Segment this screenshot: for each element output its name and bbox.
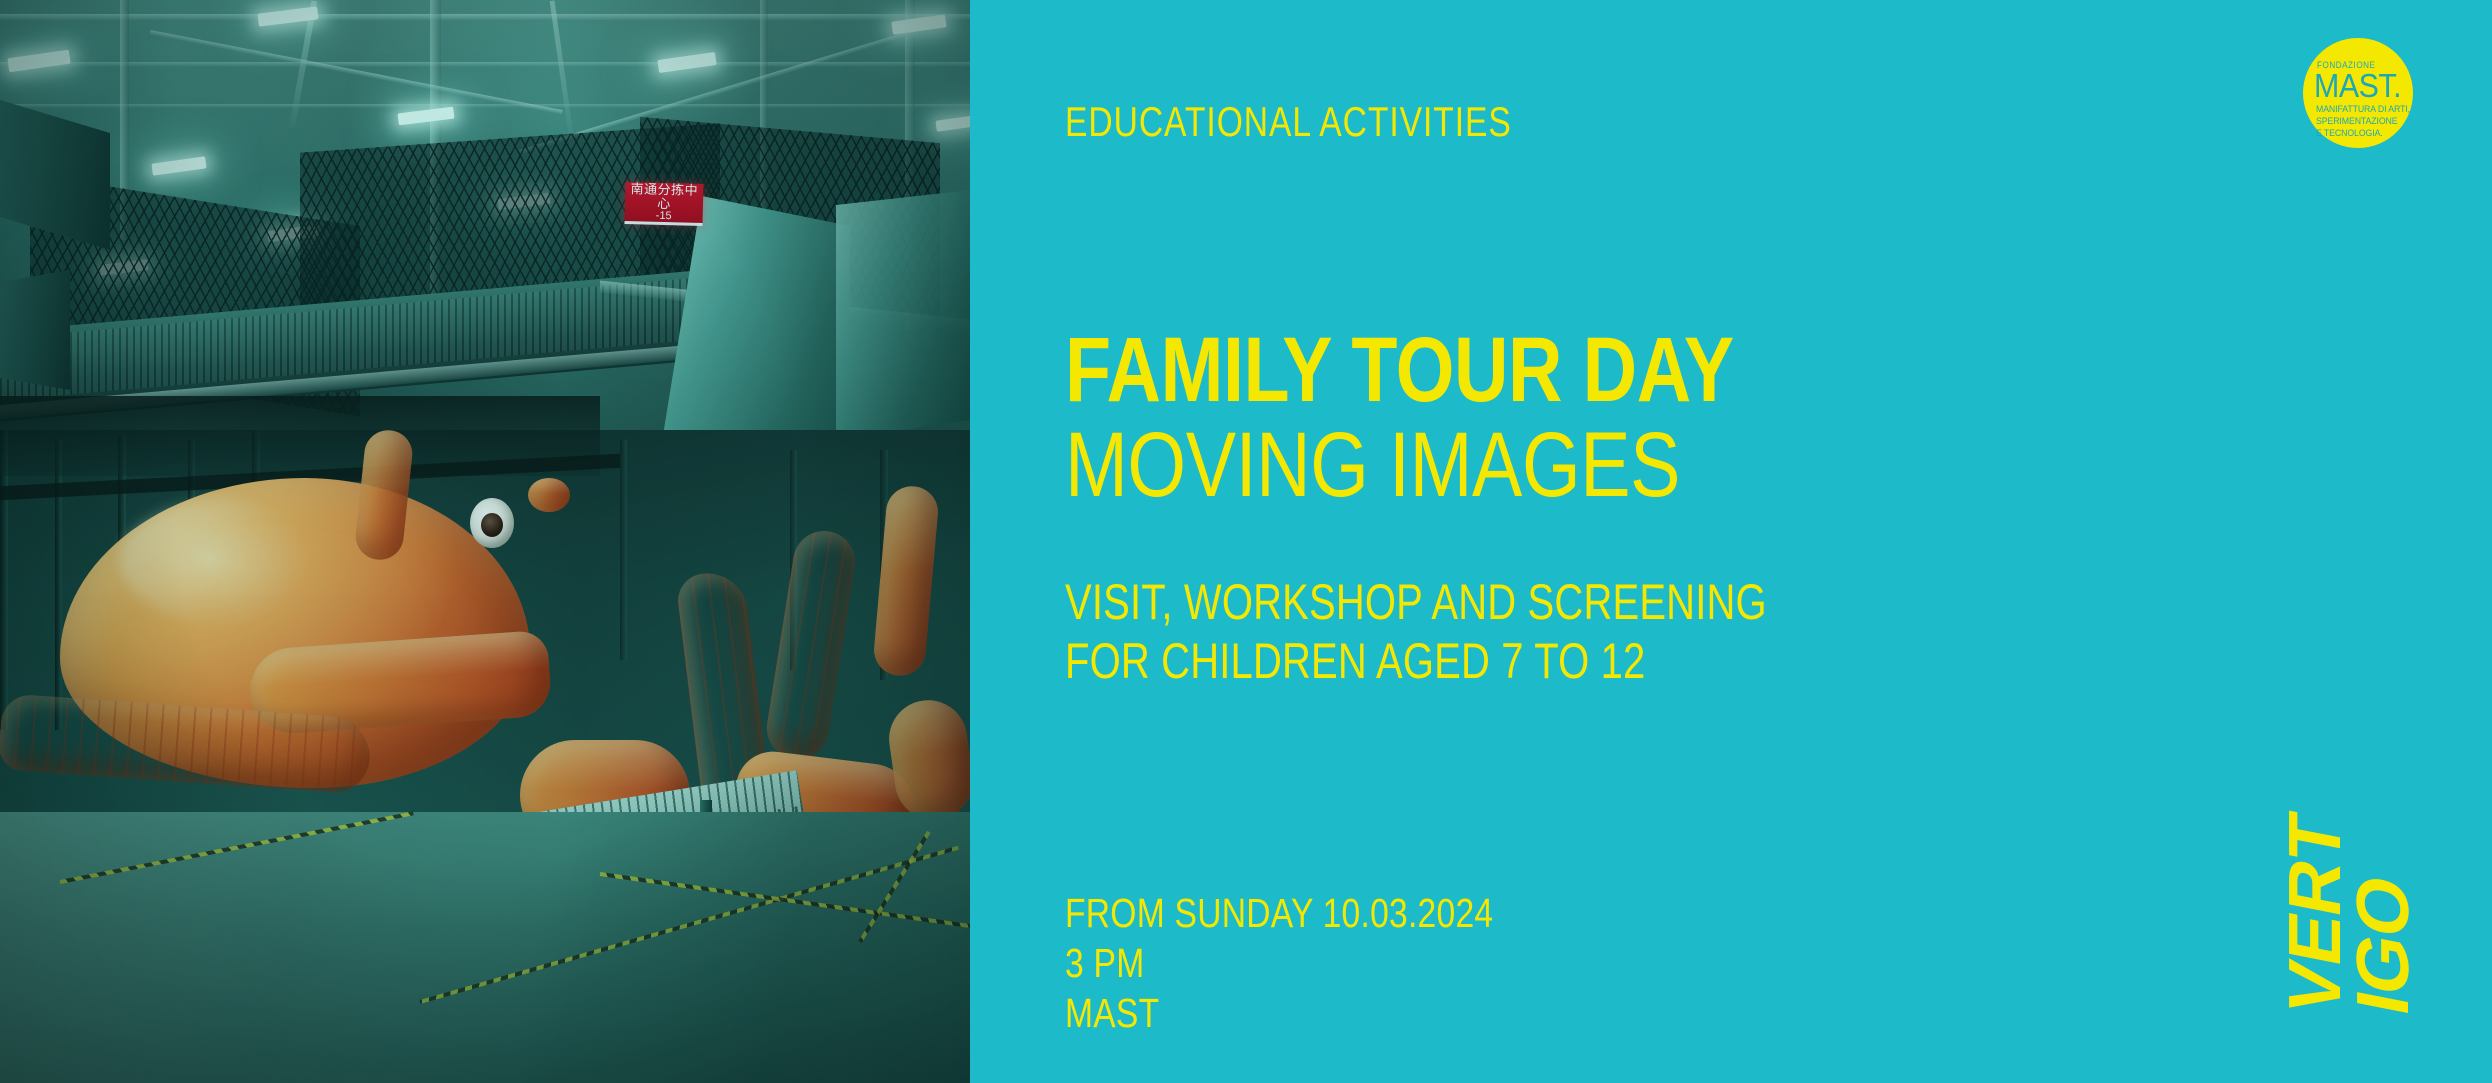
poster-canvas: 南通分拣中心 -15 bbox=[0, 0, 2492, 1083]
page-subtitle: MOVING IMAGES bbox=[1065, 419, 1734, 511]
description-line: FOR CHILDREN AGED 7 TO 12 bbox=[1065, 632, 1767, 691]
ceiling-beam bbox=[0, 62, 970, 67]
event-venue: MAST bbox=[1065, 988, 1493, 1038]
page-title: FAMILY TOUR DAY bbox=[1065, 328, 1734, 413]
event-description: VISIT, WORKSHOP AND SCREENING FOR CHILDR… bbox=[1065, 573, 1767, 691]
mast-tagline-line: MANIFATTURA DI ARTI, bbox=[2316, 104, 2410, 116]
event-time: 3 PM bbox=[1065, 938, 1493, 988]
octopus-pupil bbox=[481, 513, 503, 537]
sorting-chute bbox=[0, 270, 70, 390]
vertigo-logo[interactable]: VERT IGO bbox=[2270, 770, 2430, 1020]
vertigo-logo-part-two: IGO bbox=[2346, 871, 2420, 1021]
mast-tagline-line: E TECNOLOGIA. bbox=[2316, 128, 2410, 140]
warehouse-sign: 南通分拣中心 -15 bbox=[624, 182, 703, 226]
description-line: VISIT, WORKSHOP AND SCREENING bbox=[1065, 573, 1767, 632]
ceiling-beam bbox=[0, 14, 970, 21]
octopus-horn bbox=[528, 478, 570, 512]
ceiling-beam bbox=[0, 104, 970, 108]
sign-chinese-text: 南通分拣中心 bbox=[625, 182, 704, 212]
floor-reflection bbox=[0, 812, 970, 1083]
mast-logo-wordmark: MAST. bbox=[2314, 69, 2401, 102]
info-panel: EDUCATIONAL ACTIVITIES FAMILY TOUR DAY M… bbox=[970, 0, 2492, 1083]
event-details: FROM SUNDAY 10.03.2024 3 PM MAST bbox=[1065, 888, 1493, 1038]
event-date: FROM SUNDAY 10.03.2024 bbox=[1065, 888, 1493, 938]
mast-tagline-line: SPERIMENTAZIONE bbox=[2316, 116, 2410, 128]
category-kicker: EDUCATIONAL ACTIVITIES bbox=[1065, 98, 1512, 146]
sign-number-text: -15 bbox=[656, 210, 672, 222]
title-block: FAMILY TOUR DAY MOVING IMAGES bbox=[1065, 328, 1881, 511]
mast-logo-tagline: MANIFATTURA DI ARTI, SPERIMENTAZIONE E T… bbox=[2316, 104, 2410, 140]
sorting-chute bbox=[836, 190, 970, 440]
warehouse-photograph: 南通分拣中心 -15 bbox=[0, 0, 970, 1083]
storage-rack bbox=[620, 440, 627, 660]
octopus-highlight bbox=[120, 500, 320, 620]
mast-logo[interactable]: FONDAZIONE MAST. MANIFATTURA DI ARTI, SP… bbox=[2303, 38, 2413, 148]
